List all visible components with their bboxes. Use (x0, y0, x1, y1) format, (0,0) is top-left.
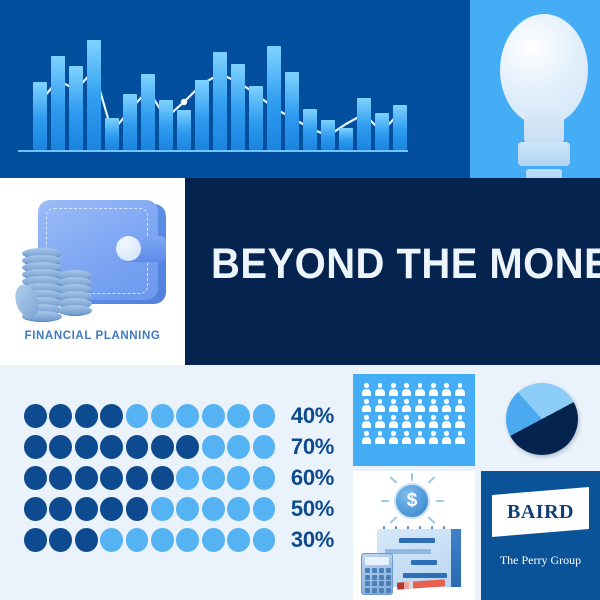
coin-ray (389, 476, 397, 484)
dot-matrix-row: 60% (24, 462, 334, 493)
wallet-button (116, 236, 141, 261)
bar (159, 100, 173, 150)
dot-empty (100, 528, 123, 552)
people-grid-panel (353, 374, 475, 466)
financial-planning-panel: FINANCIAL PLANNING (0, 178, 185, 365)
dot-matrix-chart: 40% 70% (24, 400, 334, 555)
logo-parallelogram: BAIRD (492, 487, 589, 537)
dot-filled (126, 497, 149, 521)
person-icon (374, 399, 385, 412)
coin-ray (381, 500, 389, 502)
bar (51, 56, 65, 150)
person-icon (401, 399, 412, 412)
dot-empty (227, 435, 250, 459)
dot-filled (75, 404, 98, 428)
person-icon (374, 431, 385, 444)
coin-ray (436, 500, 444, 502)
bar (195, 80, 209, 150)
dot-empty (151, 497, 174, 521)
lightbulb-base-lower (526, 169, 562, 178)
people-grid (361, 383, 467, 444)
dot-filled (75, 435, 98, 459)
dot-empty (126, 404, 149, 428)
person-icon (361, 415, 372, 428)
dot-empty (176, 404, 199, 428)
bar (123, 94, 137, 150)
bar (33, 82, 47, 150)
dot-row-percentage: 70% (291, 434, 334, 460)
dot-filled (126, 466, 149, 490)
person-icon (441, 399, 452, 412)
person-icon (374, 383, 385, 396)
dot-filled (100, 466, 123, 490)
dot-filled (126, 435, 149, 459)
dot-filled (75, 466, 98, 490)
bar (213, 52, 227, 150)
person-icon (455, 399, 466, 412)
infographic-canvas: FINANCIAL PLANNING BEYOND THE MONEY 40% (0, 0, 600, 600)
dot-empty (227, 528, 250, 552)
dot-empty (151, 404, 174, 428)
person-icon (374, 415, 385, 428)
dot-filled (151, 435, 174, 459)
dot-row-percentage: 50% (291, 496, 334, 522)
dot-matrix-row: 70% (24, 431, 334, 462)
person-icon (388, 431, 399, 444)
bar (141, 74, 155, 150)
pie-chart (506, 383, 578, 455)
bar-chart (18, 28, 418, 156)
dot-filled (176, 435, 199, 459)
dot-filled (24, 497, 47, 521)
financial-planning-label: FINANCIAL PLANNING (0, 330, 185, 342)
dot-filled (151, 466, 174, 490)
dollar-coin-icon: $ (394, 483, 430, 519)
dot-empty (253, 435, 276, 459)
person-icon (428, 431, 439, 444)
bar (321, 120, 335, 150)
dot-empty (202, 466, 225, 490)
person-icon (401, 415, 412, 428)
coin-ray (427, 516, 435, 524)
coin-ray (389, 516, 397, 524)
dot-filled (75, 497, 98, 521)
dot-filled (100, 435, 123, 459)
dot-row-percentage: 40% (291, 403, 334, 429)
lightbulb-base-upper (518, 142, 570, 166)
coin-ray (411, 473, 413, 481)
dot-matrix-row: 40% (24, 400, 334, 431)
calculator-panel: $ (353, 471, 475, 600)
dot-filled (24, 435, 47, 459)
bar (375, 113, 389, 150)
baird-wordmark: BAIRD (492, 501, 589, 524)
person-icon (441, 383, 452, 396)
dot-filled (49, 404, 72, 428)
dot-empty (202, 435, 225, 459)
bottom-section: 40% 70% (0, 365, 600, 600)
person-icon (361, 383, 372, 396)
lightbulb-icon (496, 14, 592, 178)
dot-empty (227, 404, 250, 428)
dot-filled (24, 528, 47, 552)
calculator-icon (361, 553, 393, 595)
dot-empty (253, 497, 276, 521)
headline-panel: BEYOND THE MONEY (185, 178, 600, 365)
bar (303, 109, 317, 150)
person-icon (428, 399, 439, 412)
person-icon (388, 383, 399, 396)
dot-empty (227, 466, 250, 490)
dot-matrix-row: 50% (24, 493, 334, 524)
person-icon (415, 431, 426, 444)
dot-matrix-row: 30% (24, 524, 334, 555)
bar (267, 46, 281, 150)
pie-chart-panel (481, 374, 600, 466)
person-icon (428, 415, 439, 428)
person-icon (415, 383, 426, 396)
dot-empty (176, 528, 199, 552)
dot-empty (151, 528, 174, 552)
person-icon (361, 399, 372, 412)
bar (105, 118, 119, 150)
dot-filled (49, 435, 72, 459)
bar (285, 72, 299, 150)
bar (357, 98, 371, 150)
dot-filled (75, 528, 98, 552)
bar (69, 66, 83, 150)
notepad-spine (451, 529, 461, 587)
dot-empty (253, 404, 276, 428)
dot-row-percentage: 60% (291, 465, 334, 491)
calculator-screen (365, 557, 389, 565)
dot-empty (253, 466, 276, 490)
bar (393, 105, 407, 150)
dot-filled (24, 404, 47, 428)
bar (87, 40, 101, 150)
dot-filled (49, 497, 72, 521)
dot-row-percentage: 30% (291, 527, 334, 553)
dot-filled (24, 466, 47, 490)
wallet-with-coins-icon (14, 196, 174, 321)
baird-logo-panel: BAIRD The Perry Group (481, 471, 600, 600)
person-icon (441, 415, 452, 428)
dot-filled (100, 497, 123, 521)
top-chart-band (0, 0, 600, 178)
logo-subtitle: The Perry Group (481, 553, 600, 568)
calculator-keys (365, 568, 391, 593)
dot-filled (49, 466, 72, 490)
bar (339, 128, 353, 150)
person-icon (401, 431, 412, 444)
dot-filled (100, 404, 123, 428)
person-icon (388, 415, 399, 428)
person-icon (388, 399, 399, 412)
dot-empty (253, 528, 276, 552)
lightbulb-neck (524, 108, 564, 146)
person-icon (415, 415, 426, 428)
person-icon (401, 383, 412, 396)
dot-empty (176, 466, 199, 490)
person-icon (455, 431, 466, 444)
person-icon (361, 431, 372, 444)
bar (231, 64, 245, 150)
dot-empty (202, 528, 225, 552)
person-icon (441, 431, 452, 444)
bar (249, 86, 263, 150)
bar (177, 110, 191, 150)
dot-filled (49, 528, 72, 552)
dot-empty (126, 528, 149, 552)
person-icon (415, 399, 426, 412)
person-icon (455, 383, 466, 396)
dot-empty (202, 404, 225, 428)
dot-empty (202, 497, 225, 521)
dot-empty (176, 497, 199, 521)
page-title: BEYOND THE MONEY (211, 240, 564, 289)
person-icon (428, 383, 439, 396)
person-icon (455, 415, 466, 428)
dot-empty (227, 497, 250, 521)
coin-ray (427, 476, 435, 484)
